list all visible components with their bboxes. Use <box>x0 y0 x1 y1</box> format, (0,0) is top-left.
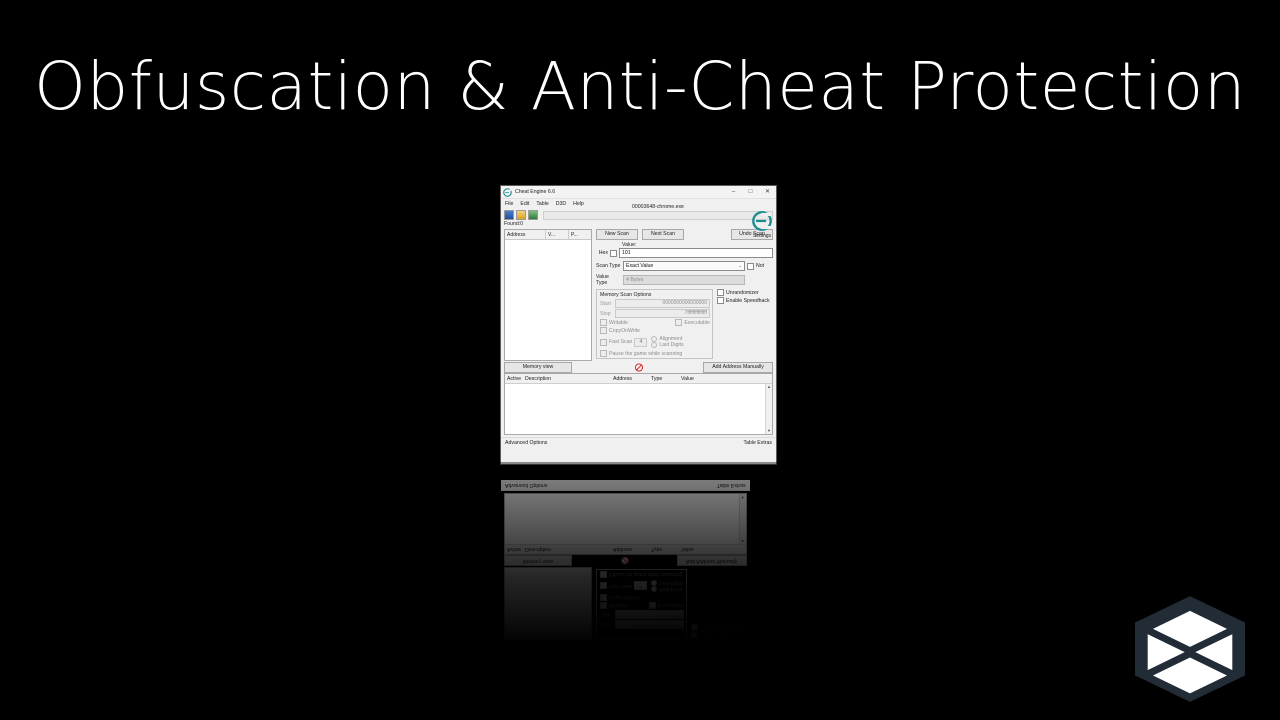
executable-checkbox <box>649 602 656 609</box>
column-table-address[interactable]: Address <box>611 376 649 382</box>
not-label: Not <box>756 263 764 269</box>
scan-pane: New Scan Next Scan Undo Scan Value: Hex … <box>596 229 773 361</box>
fast-scan-label: Fast Scan <box>609 583 632 589</box>
address-list[interactable]: Address V... P... <box>504 229 592 361</box>
reflection-mirror: Cheat Engine 6.6 – □ ✕ File Edit Table D… <box>501 464 776 640</box>
found-counter: Found:0 <box>501 221 776 229</box>
mid-toolbar: Memory view Add Address Manually <box>501 361 776 373</box>
address-list: Address V... P... <box>504 567 592 640</box>
memory-scan-options: Memory Scan Options Start 00000000000000… <box>596 569 687 639</box>
value-row: Value: Hex 101 <box>596 242 773 258</box>
writable-label: Writable <box>609 603 628 609</box>
last-digits-option: Last Digits <box>651 580 683 586</box>
stop-input: 7fffffffffffffff <box>615 610 684 619</box>
writable-row: Writable Executable <box>600 602 684 609</box>
pause-checkbox <box>600 571 607 578</box>
executable-label: Executable <box>658 603 684 609</box>
memory-view-button[interactable]: Memory view <box>504 362 572 373</box>
column-table-type: Type <box>649 547 679 553</box>
last-digits-label: Last Digits <box>659 342 683 348</box>
copyonwrite-checkbox <box>600 594 607 601</box>
memory-view-button: Memory view <box>504 556 572 567</box>
settings-control[interactable]: Settings <box>750 210 774 239</box>
last-digits-option[interactable]: Last Digits <box>651 342 683 348</box>
table-scrollbar[interactable]: ▲ ▼ <box>765 384 772 434</box>
hex-line: Hex 101 <box>596 248 773 258</box>
main-split: Address V... P... New Scan Next Scan Und… <box>501 567 750 640</box>
close-button[interactable]: ✕ <box>759 186 776 198</box>
cheat-table: Active Description Address Type Value ▲ … <box>504 493 747 555</box>
start-line: Start 0000000000000000 <box>600 620 684 629</box>
new-scan-button[interactable]: New Scan <box>596 229 638 240</box>
save-file-icon[interactable] <box>528 210 538 220</box>
alignment-radios: Alignment Last Digits <box>651 336 683 348</box>
fast-scan-input[interactable]: 4 <box>634 338 647 347</box>
column-active[interactable]: Active <box>505 376 523 382</box>
page-title: Obfuscation & Anti-Cheat Protection <box>0 48 1280 125</box>
executable-checkbox[interactable] <box>675 319 682 326</box>
scan-type-value: Exact Value <box>626 262 653 270</box>
unrandomizer-label: Unrandomizer <box>726 290 759 296</box>
slide-canvas: Obfuscation & Anti-Cheat Protection Chea… <box>0 0 1280 720</box>
address-list-header: Address V... P... <box>505 230 591 240</box>
speedhack-label: Enable Speedhack <box>726 298 770 304</box>
alignment-label: Alignment <box>659 586 682 592</box>
window-controls: – □ ✕ <box>725 186 776 198</box>
column-table-value[interactable]: Value <box>679 376 772 382</box>
right-options: Unrandomizer Enable Speedhack <box>717 289 773 359</box>
executable-label: Executable <box>684 320 710 326</box>
value-type-label: Value Type <box>596 274 621 286</box>
cheat-table-header: Active Description Address Type Value <box>505 374 772 384</box>
unrandomizer-option[interactable]: Unrandomizer <box>717 289 773 296</box>
writable-checkbox[interactable] <box>600 319 607 326</box>
unrandomizer-option: Unrandomizer <box>691 632 747 639</box>
mid-toolbar: Memory view Add Address Manually <box>501 555 750 567</box>
column-previous[interactable]: P... <box>569 230 591 239</box>
scroll-up-icon[interactable]: ▲ <box>766 384 772 390</box>
column-value[interactable]: V... <box>546 230 569 239</box>
value-type-value: 4 Bytes <box>626 276 643 284</box>
memory-options-row: Memory Scan Options Start 00000000000000… <box>596 289 773 359</box>
scan-type-select[interactable]: Exact Value ⌄ <box>623 261 745 271</box>
copyonwrite-checkbox[interactable] <box>600 327 607 334</box>
cheat-engine-window: Cheat Engine 6.6 – □ ✕ File Edit Table D… <box>501 186 776 464</box>
address-list-body[interactable] <box>505 240 591 360</box>
table-extras-link: Table Extras <box>717 482 746 488</box>
fast-scan-checkbox[interactable] <box>600 339 607 346</box>
speedhack-option: Enable Speedhack <box>691 624 747 631</box>
column-table-type[interactable]: Type <box>649 376 679 382</box>
cheat-table[interactable]: Active Description Address Type Value ▲ … <box>504 373 773 435</box>
speedhack-option[interactable]: Enable Speedhack <box>717 297 773 304</box>
stop-scan-icon <box>621 557 630 566</box>
bottom-bar: Advanced Options Table Extras <box>501 480 750 491</box>
fast-scan-row: Fast Scan 4 Alignment Last Digits <box>600 336 710 348</box>
titlebar: Cheat Engine 6.6 – □ ✕ <box>501 186 776 199</box>
memory-scan-options-title: Memory Scan Options <box>600 292 710 298</box>
minimize-button[interactable]: – <box>725 186 742 198</box>
fast-scan-input: 4 <box>634 582 647 591</box>
memory-scan-options: Memory Scan Options Start 00000000000000… <box>596 289 713 359</box>
not-checkbox[interactable] <box>747 263 754 270</box>
main-split: Address V... P... New Scan Next Scan Und… <box>501 229 776 361</box>
bottom-bar: Advanced Options Table Extras <box>501 437 776 448</box>
next-scan-button[interactable]: Next Scan <box>642 229 684 240</box>
not-option[interactable]: Not <box>747 263 773 270</box>
stop-scan-icon[interactable] <box>634 363 643 372</box>
process-bar: 00003648-chrome.exe <box>543 211 773 220</box>
copyonwrite-row: CopyOnWrite <box>600 327 710 334</box>
unity-logo <box>1120 594 1260 704</box>
table-extras-link[interactable]: Table Extras <box>743 440 772 446</box>
fast-scan-row: Fast Scan 4 Alignment Last Digits <box>600 580 684 592</box>
pause-row: Pause the game while scanning <box>600 350 710 357</box>
stop-label: Stop <box>600 612 613 618</box>
table-scrollbar: ▲ ▼ <box>739 494 746 544</box>
scan-pane: New Scan Next Scan Undo Scan Value: Hex … <box>596 567 747 640</box>
right-options: Unrandomizer Enable Speedhack <box>691 569 747 639</box>
settings-label: Settings <box>750 233 774 239</box>
unrandomizer-checkbox[interactable] <box>717 289 724 296</box>
value-type-row: Value Type 4 Bytes <box>596 274 773 286</box>
open-file-icon[interactable] <box>516 210 526 220</box>
start-line: Start 0000000000000000 <box>600 299 710 308</box>
stop-line: Stop 7fffffffffffffff <box>600 309 710 318</box>
scan-type-label: Scan Type <box>596 263 621 269</box>
copyonwrite-label: CopyOnWrite <box>609 328 640 334</box>
column-address[interactable]: Address <box>505 230 546 239</box>
scroll-down-icon[interactable]: ▼ <box>766 428 772 434</box>
scroll-up-icon: ▲ <box>740 538 746 544</box>
pause-checkbox[interactable] <box>600 350 607 357</box>
column-description: Description <box>523 547 611 553</box>
window-title: Cheat Engine 6.6 <box>515 189 725 195</box>
start-label: Start <box>600 622 613 628</box>
cheat-table-body[interactable]: ▲ ▼ <box>505 384 772 434</box>
writable-label: Writable <box>609 320 628 326</box>
stop-line: Stop 7fffffffffffffff <box>600 610 684 619</box>
alignment-option: Alignment <box>651 586 683 592</box>
alignment-radios: Alignment Last Digits <box>651 580 683 592</box>
add-address-manually-button[interactable]: Add Address Manually <box>703 362 773 373</box>
fast-scan-label: Fast Scan <box>609 339 632 345</box>
unrandomizer-checkbox <box>691 632 698 639</box>
add-address-manually-button: Add Address Manually <box>677 556 747 567</box>
cheat-table-body: ▲ ▼ <box>505 494 746 544</box>
column-description[interactable]: Description <box>523 376 611 382</box>
scan-value-input[interactable]: 101 <box>619 248 773 258</box>
stop-input[interactable]: 7fffffffffffffff <box>615 309 710 318</box>
pause-label: Pause the game while scanning <box>609 351 682 357</box>
start-label: Start <box>600 301 613 307</box>
found-label: Found: <box>504 221 520 227</box>
stop-label: Stop <box>600 311 613 317</box>
alignment-radio <box>651 586 657 592</box>
hex-checkbox[interactable] <box>610 250 617 257</box>
pause-row: Pause the game while scanning <box>600 571 684 578</box>
menu-item-edit[interactable]: Edit <box>520 201 529 207</box>
fast-scan-checkbox <box>600 583 607 590</box>
copyonwrite-row: CopyOnWrite <box>600 594 684 601</box>
advanced-options-link: Advanced Options <box>505 482 547 488</box>
cheat-table-header: Active Description Address Type Value <box>505 544 746 554</box>
pause-label: Pause the game while scanning <box>609 572 682 578</box>
column-active: Active <box>505 547 523 553</box>
start-input: 0000000000000000 <box>615 620 684 629</box>
value-type-select[interactable]: 4 Bytes <box>623 275 745 285</box>
maximize-button[interactable]: □ <box>742 186 759 198</box>
copyonwrite-label: CopyOnWrite <box>609 595 640 601</box>
start-input[interactable]: 0000000000000000 <box>615 299 710 308</box>
speedhack-checkbox[interactable] <box>717 297 724 304</box>
chevron-down-icon: ⌄ <box>739 262 742 270</box>
process-name: 00003648-chrome.exe <box>543 204 773 210</box>
last-digits-label: Last Digits <box>659 580 683 586</box>
unrandomizer-label: Unrandomizer <box>700 633 733 639</box>
memory-options-row: Memory Scan Options Start 00000000000000… <box>596 569 747 639</box>
process-select-icon[interactable] <box>504 210 514 220</box>
process-bar-box <box>543 211 773 220</box>
scan-buttons: New Scan Next Scan Undo Scan <box>596 229 773 240</box>
scroll-down-icon: ▼ <box>740 494 746 500</box>
hex-label: Hex <box>596 250 608 256</box>
writable-row: Writable Executable <box>600 319 710 326</box>
advanced-options-link[interactable]: Advanced Options <box>505 440 547 446</box>
cheat-engine-logo-icon[interactable] <box>751 210 773 232</box>
cheat-engine-icon <box>503 188 512 197</box>
speedhack-label: Enable Speedhack <box>700 625 744 631</box>
found-count: 0 <box>520 221 523 227</box>
last-digits-radio <box>651 580 657 586</box>
address-list-body <box>505 568 591 640</box>
toolbar: 00003648-chrome.exe <box>501 209 776 221</box>
last-digits-radio[interactable] <box>651 342 657 348</box>
writable-checkbox <box>600 602 607 609</box>
reflection-window-copy: Cheat Engine 6.6 – □ ✕ File Edit Table D… <box>501 480 750 640</box>
column-table-address: Address <box>611 547 649 553</box>
column-table-value: Value <box>679 547 746 553</box>
window-reflection: Cheat Engine 6.6 – □ ✕ File Edit Table D… <box>501 464 776 640</box>
speedhack-checkbox <box>691 624 698 631</box>
menu-item-file[interactable]: File <box>505 201 513 207</box>
scan-type-row: Scan Type Exact Value ⌄ Not <box>596 261 773 271</box>
memory-scan-options-title: Memory Scan Options <box>600 630 684 636</box>
